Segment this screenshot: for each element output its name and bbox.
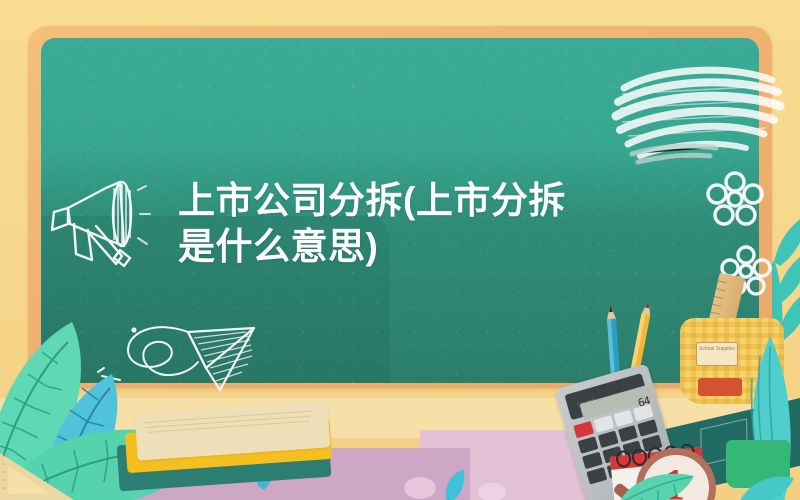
decorative-shapes (400, 466, 520, 500)
triangle-ruler (0, 446, 88, 500)
calculator-key[interactable] (633, 404, 654, 421)
calculator-key[interactable] (637, 419, 658, 436)
calculator-key-ac[interactable] (573, 421, 594, 438)
calculator-key[interactable] (582, 452, 603, 469)
page-title: 上市公司分拆(上市分拆是什么意思) (178, 178, 598, 270)
calculator-key[interactable] (613, 410, 634, 427)
flower-upper-icon (704, 168, 766, 232)
eraser-smudge-icon (610, 58, 785, 170)
calculator-key[interactable] (618, 425, 639, 442)
plant-leaves (618, 460, 800, 500)
calculator-key[interactable] (598, 431, 619, 448)
calculator-key[interactable] (593, 415, 614, 432)
banner-image: 上市公司分拆(上市分拆是什么意思) (0, 0, 800, 500)
calculator-key[interactable] (586, 467, 607, 484)
calculator-key[interactable] (578, 436, 599, 453)
megaphone-icon (44, 160, 154, 280)
